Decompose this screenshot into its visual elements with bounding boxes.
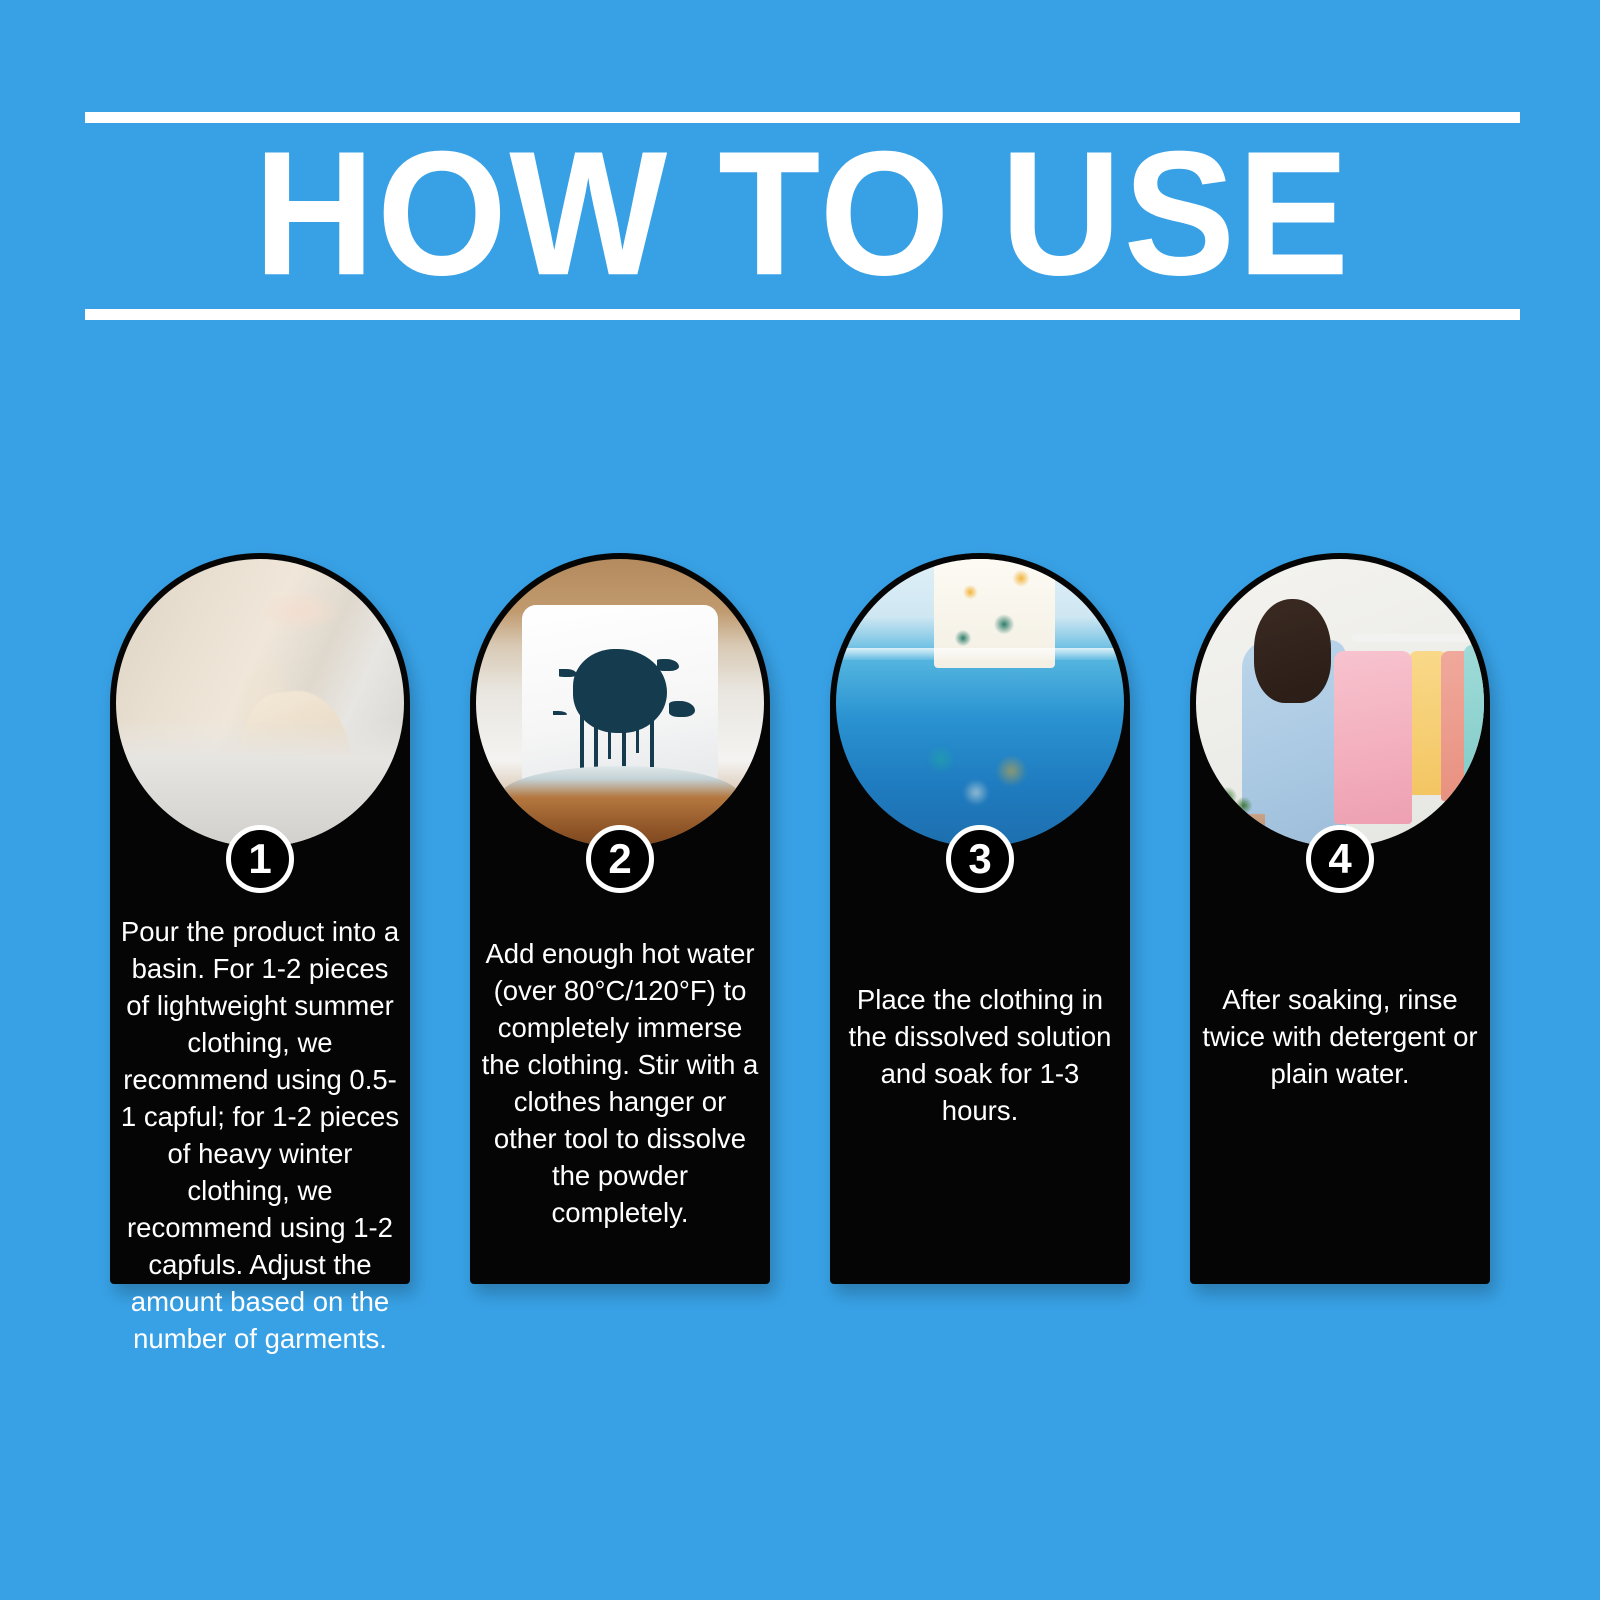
step-2-photo (476, 559, 764, 847)
step-card-4[interactable]: 4 After soaking, rinse twice with deterg… (1190, 553, 1490, 1284)
hair-shape (1254, 599, 1332, 703)
step-1-number-badge: 1 (226, 825, 294, 893)
plant-shape (1202, 778, 1265, 841)
step-card-2[interactable]: 2 Add enough hot water (over 80°C/120°F)… (470, 553, 770, 1284)
teal-garment-shape (1464, 645, 1484, 806)
step-4-number-badge: 4 (1306, 825, 1374, 893)
step-3-number-badge: 3 (946, 825, 1014, 893)
step-4-photo (1196, 559, 1484, 847)
step-number-label: 2 (608, 838, 631, 880)
step-3-description: Place the clothing in the dissolved solu… (840, 981, 1120, 1129)
hands-holding-beige-shirt-over-sink-image (116, 559, 404, 847)
step-card-1[interactable]: 1 Pour the product into a basin. For 1-2… (110, 553, 410, 1284)
garment-soaking-in-blue-water-bowl-image (836, 559, 1124, 847)
step-number-label: 1 (248, 838, 271, 880)
step-2-number-badge: 2 (586, 825, 654, 893)
step-card-3[interactable]: 3 Place the clothing in the dissolved so… (830, 553, 1130, 1284)
pink-garment-shape (1334, 651, 1412, 824)
page-title: HOW TO USE (42, 112, 1563, 320)
step-number-label: 4 (1328, 838, 1351, 880)
header: HOW TO USE (85, 112, 1520, 320)
step-number-label: 3 (968, 838, 991, 880)
drying-rack-shape (1352, 634, 1484, 642)
step-3-photo (836, 559, 1124, 847)
steps-row: 1 Pour the product into a basin. For 1-2… (110, 553, 1490, 1284)
waterline-shape (836, 648, 1124, 660)
step-4-description: After soaking, rinse twice with detergen… (1200, 981, 1480, 1092)
step-2-description: Add enough hot water (over 80°C/120°F) t… (480, 935, 760, 1231)
step-1-description: Pour the product into a basin. For 1-2 p… (120, 913, 400, 1357)
woman-hanging-laundry-on-rack-image (1196, 559, 1484, 847)
white-tshirt-with-ink-stain-over-basin-image (476, 559, 764, 847)
step-1-photo (116, 559, 404, 847)
